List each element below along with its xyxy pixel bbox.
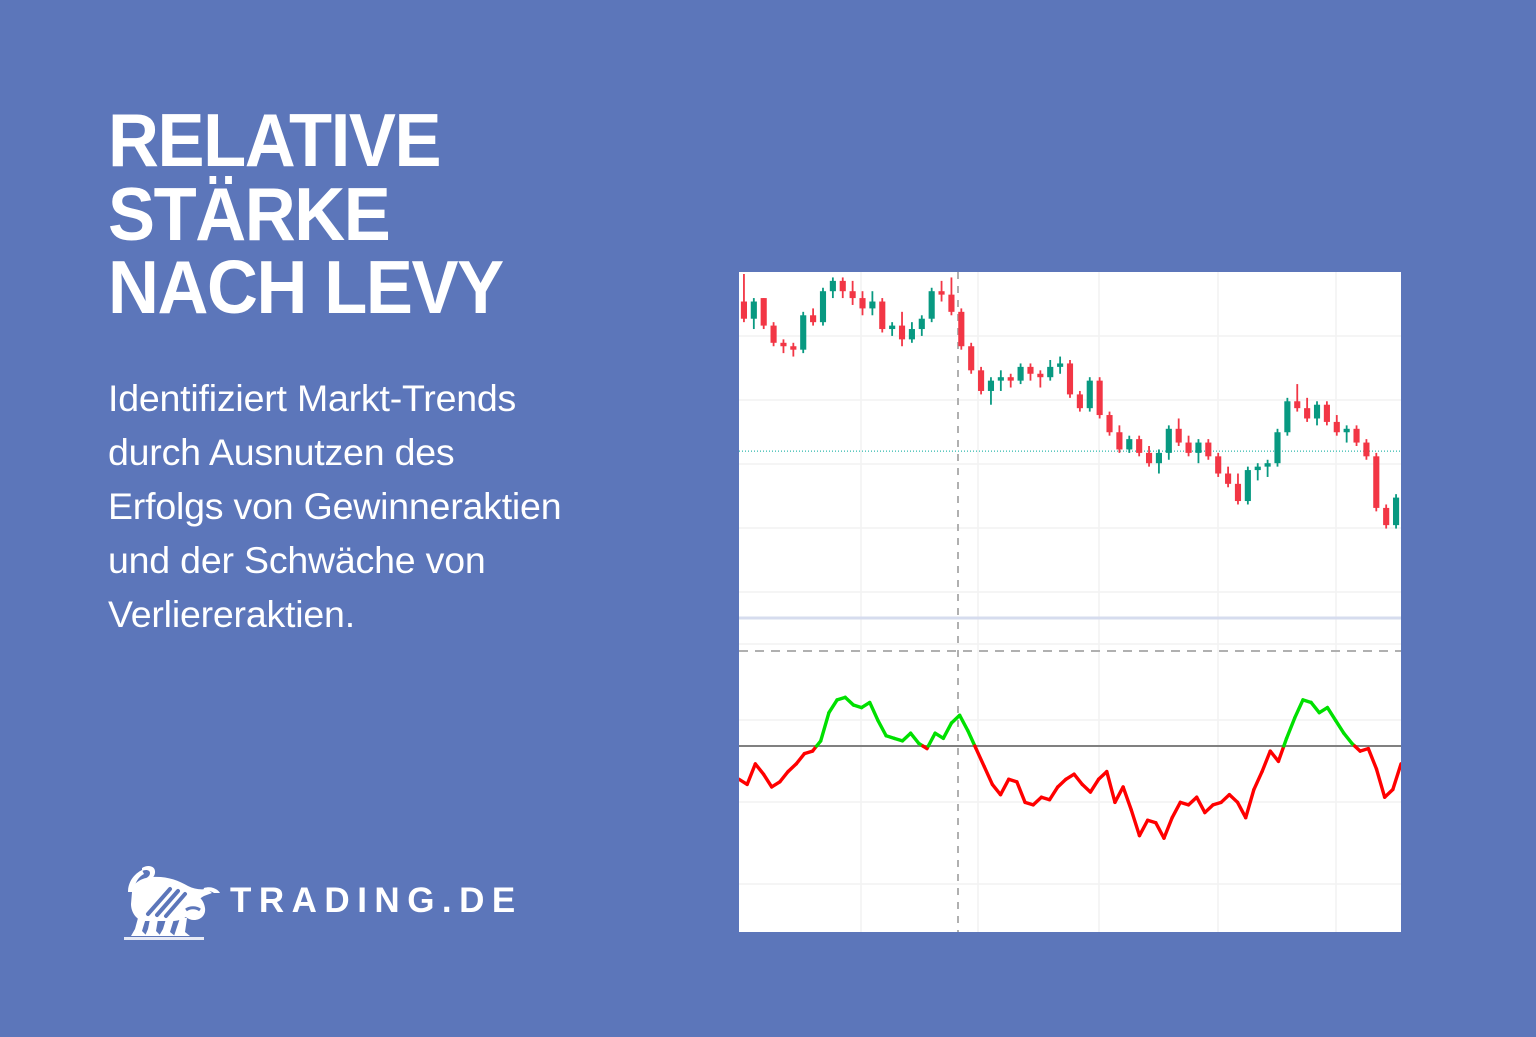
indicator-segment [1368,749,1376,769]
logo-wordmark: TRADING.DE [230,881,523,921]
candle-body [840,281,846,291]
indicator-segment [1254,772,1262,790]
indicator-segment [1295,700,1303,718]
candle-body [978,370,984,391]
indicator-segment [1376,769,1384,797]
candle-body [1008,377,1014,380]
candle-body [1393,498,1399,526]
candle-body [1156,453,1162,463]
indicator-segment [911,733,919,743]
candle-body [780,343,786,346]
candle-body [830,281,836,291]
indicator-segment [968,731,975,746]
candle-body [909,329,915,339]
indicator-segment [1327,708,1335,721]
candle-body [1284,401,1290,432]
candle-body [938,291,944,294]
candle-body [1274,432,1280,463]
indicator-segment [943,723,951,738]
candle-body [1037,374,1043,377]
candle-body [1383,508,1389,525]
candle-body [1205,443,1211,457]
indicator-segment [1393,764,1401,790]
indicator-segment [1336,720,1344,733]
candle-body [1018,367,1024,381]
page-title: RELATIVE STÄRKE NACH LEVY [108,104,653,325]
indicator-segment [1050,787,1058,800]
indicator-segment [1246,790,1254,818]
candle-body [1057,363,1063,366]
candlestick-series [741,274,1399,529]
candle-body [929,291,935,319]
trading-chart [739,272,1401,932]
candle-body [988,381,994,391]
candle-body [1324,405,1330,422]
candle-body [751,302,757,319]
candle-body [761,298,767,326]
candle-body [850,291,856,298]
candle-body [1304,408,1310,418]
candle-body [1195,443,1201,453]
candle-body [998,377,1004,380]
candle-body [771,326,777,343]
candle-body [790,346,796,349]
indicator-segment [1090,779,1098,792]
indicator-segment [1197,797,1205,812]
indicator-segment [1287,718,1295,738]
indicator-segment [747,764,755,784]
candle-body [1353,429,1359,443]
candle-body [1245,470,1251,501]
candle-body [800,315,806,349]
indicator-segment [1344,733,1352,743]
description-text: Identifiziert Markt-Trends durch Ausnutz… [108,325,688,641]
candle-body [1097,381,1103,415]
candle-body [948,295,954,312]
indicator-segment [1123,787,1131,810]
indicator-segment [960,715,968,730]
candle-body [1265,463,1271,466]
candle-body [1077,394,1083,408]
left-content-column: RELATIVE STÄRKE NACH LEVY Identifiziert … [108,104,688,641]
indicator-segment [755,764,763,774]
indicator-segment [1164,818,1172,838]
candle-body [1334,422,1340,432]
indicator-segment [1001,779,1009,794]
indicator-segment [984,766,992,784]
candle-body [859,298,865,308]
candle-body [1314,405,1320,419]
indicator-segment [928,733,935,746]
candle-body [741,302,747,319]
candle-body [1294,401,1300,408]
indicator-segment [870,702,878,720]
candle-body [869,302,875,309]
indicator-segment [829,700,837,713]
candle-body [1215,456,1221,473]
candle-body [1255,467,1261,470]
indicator-segment [1139,820,1147,835]
candle-body [958,312,964,346]
indicator-segment [764,774,772,787]
candle-body [1363,443,1369,457]
candle-body [820,291,826,322]
indicator-segment [878,720,886,735]
candle-body [1136,439,1142,453]
indicator-segment [821,713,829,741]
candle-body [1373,456,1379,508]
indicator-segment [1156,823,1164,838]
candle-body [1176,429,1182,443]
indicator-segment [1131,810,1139,836]
brand-logo: TRADING.DE [108,862,523,940]
indicator-segment [1172,802,1180,817]
indicator-segment [796,754,804,764]
indicator-segment [1017,782,1025,802]
indicator-segment [1107,772,1115,803]
indicator-segment [992,784,1000,794]
poster-root: RELATIVE STÄRKE NACH LEVY Identifiziert … [0,0,1536,1037]
candle-body [968,346,974,370]
candle-body [1047,367,1053,377]
candle-body [1027,367,1033,374]
indicator-segment [1311,702,1319,712]
candle-body [1116,432,1122,449]
indicator-segment [976,749,984,767]
candle-body [1166,429,1172,453]
chart-canvas [739,272,1401,932]
candle-body [1344,429,1350,432]
candle-body [889,326,895,329]
candle-body [1225,474,1231,484]
candle-body [879,302,885,330]
candle-body [810,315,816,322]
candle-body [1146,453,1152,463]
candle-body [1087,381,1093,409]
indicator-segment [1262,751,1270,771]
indicator-segment [1278,746,1283,761]
candle-body [1186,443,1192,453]
candle-body [1126,439,1132,449]
indicator-segment [780,772,788,782]
indicator-segment [1115,787,1123,802]
candle-body [899,326,905,340]
candle-body [1067,363,1073,394]
indicator-segment [1074,774,1082,784]
bull-icon [108,862,220,940]
indicator-segment [1238,802,1246,817]
indicator-line-series [739,697,1401,838]
candle-body [919,319,925,329]
candle-body [1106,415,1112,432]
candle-body [1235,484,1241,501]
